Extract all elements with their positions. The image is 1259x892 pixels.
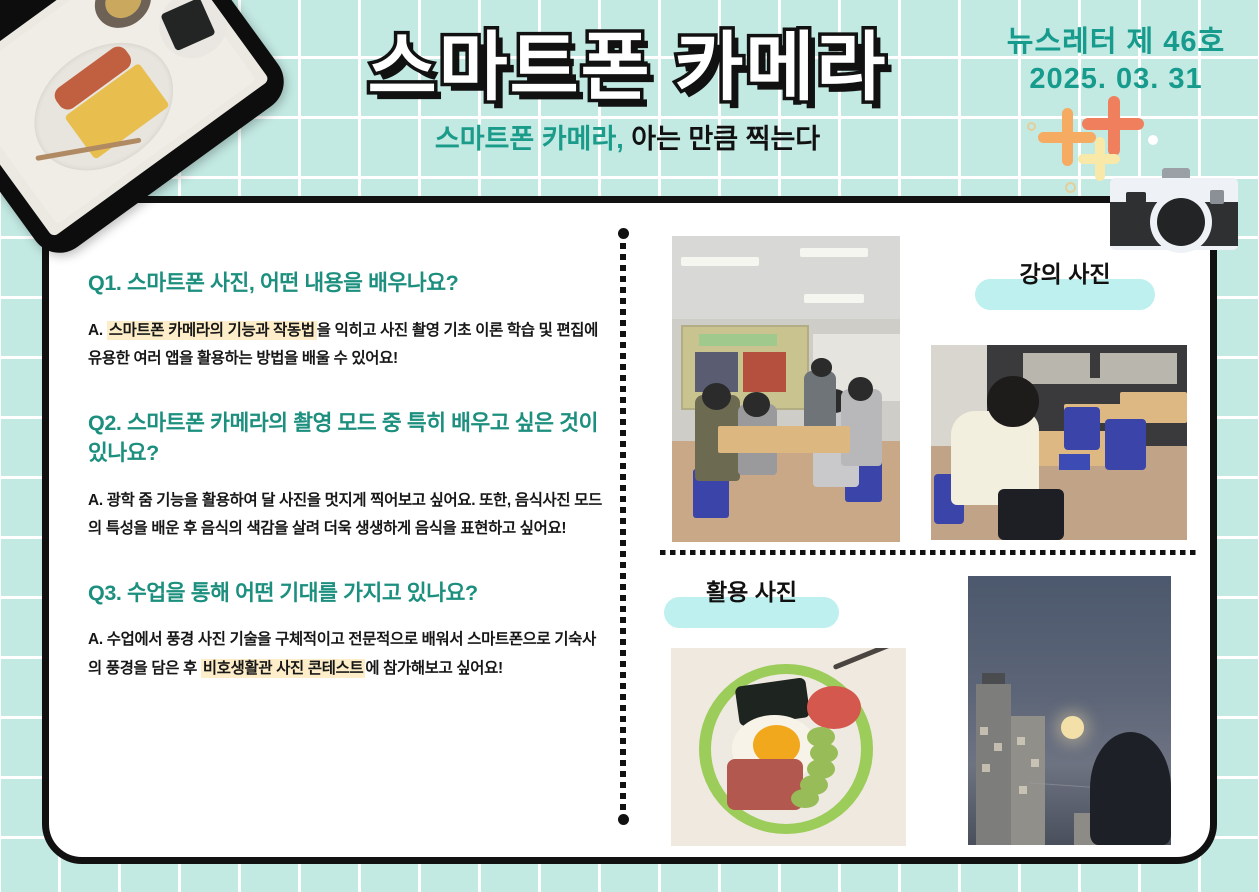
decor-ring: [1027, 122, 1036, 131]
vertical-dotted-divider: [620, 232, 626, 820]
answer-1-prefix: A.: [88, 322, 107, 339]
camera-flash: [1126, 192, 1146, 203]
divider-cap-top: [618, 228, 629, 239]
camera-dial: [1210, 190, 1224, 204]
question-1-title: Q1. 스마트폰 사진, 어떤 내용을 배우나요?: [88, 268, 603, 299]
question-2-title: Q2. 스마트폰 카메라의 촬영 모드 중 특히 배우고 싶은 것이 있나요?: [88, 408, 603, 469]
answer-2: A. 광학 줌 기능을 활용하여 달 사진을 멋지게 찍어보고 싶어요. 또한,…: [88, 487, 603, 544]
qa-column: Q1. 스마트폰 사진, 어떤 내용을 배우나요? A. 스마트폰 카메라의 기…: [88, 268, 603, 683]
answer-3-rest: 에 참가해보고 싶어요!: [365, 660, 503, 677]
label-usage-text: 활용 사진: [664, 580, 839, 605]
answer-2-rest: 광학 줌 기능을 활용하여 달 사진을 멋지게 찍어보고 싶어요. 또한, 음식…: [88, 492, 602, 538]
label-lecture-photos: 강의 사진: [975, 262, 1155, 287]
decor-dot: [1148, 135, 1158, 145]
question-3-title: Q3. 수업을 통해 어떤 기대를 가지고 있나요?: [88, 578, 603, 609]
student-desk-photo: [931, 345, 1187, 540]
answer-3: A. 수업에서 풍경 사진 기술을 구체적이고 전문적으로 배워서 스마트폰으로…: [88, 626, 603, 683]
moon-skyline-photo: [968, 576, 1171, 845]
label-lecture-text: 강의 사진: [975, 262, 1155, 287]
camera-icon: [1110, 168, 1238, 250]
divider-cap-bottom: [618, 814, 629, 825]
label-usage-photos: 활용 사진: [664, 580, 839, 605]
horizontal-dotted-divider: [660, 550, 1197, 555]
answer-3-highlight: 비호생활관 사진 콘테스트: [201, 659, 365, 678]
answer-2-prefix: A.: [88, 492, 107, 509]
food-bowl-photo: [671, 648, 906, 846]
answer-1: A. 스마트폰 카메라의 기능과 작동법을 익히고 사진 촬영 기초 이론 학습…: [88, 317, 603, 374]
camera-body: [1110, 178, 1238, 250]
decor-ring: [1065, 182, 1076, 193]
qa-block-1: Q1. 스마트폰 사진, 어떤 내용을 배우나요? A. 스마트폰 카메라의 기…: [88, 268, 603, 374]
qa-block-2: Q2. 스마트폰 카메라의 촬영 모드 중 특히 배우고 싶은 것이 있나요? …: [88, 408, 603, 544]
lecture-classroom-photo: [672, 236, 900, 542]
answer-1-highlight: 스마트폰 카메라의 기능과 작동법: [107, 321, 317, 340]
answer-3-prefix: A.: [88, 631, 107, 648]
camera-lens: [1157, 198, 1205, 246]
qa-block-3: Q3. 수업을 통해 어떤 기대를 가지고 있나요? A. 수업에서 풍경 사진…: [88, 578, 603, 684]
